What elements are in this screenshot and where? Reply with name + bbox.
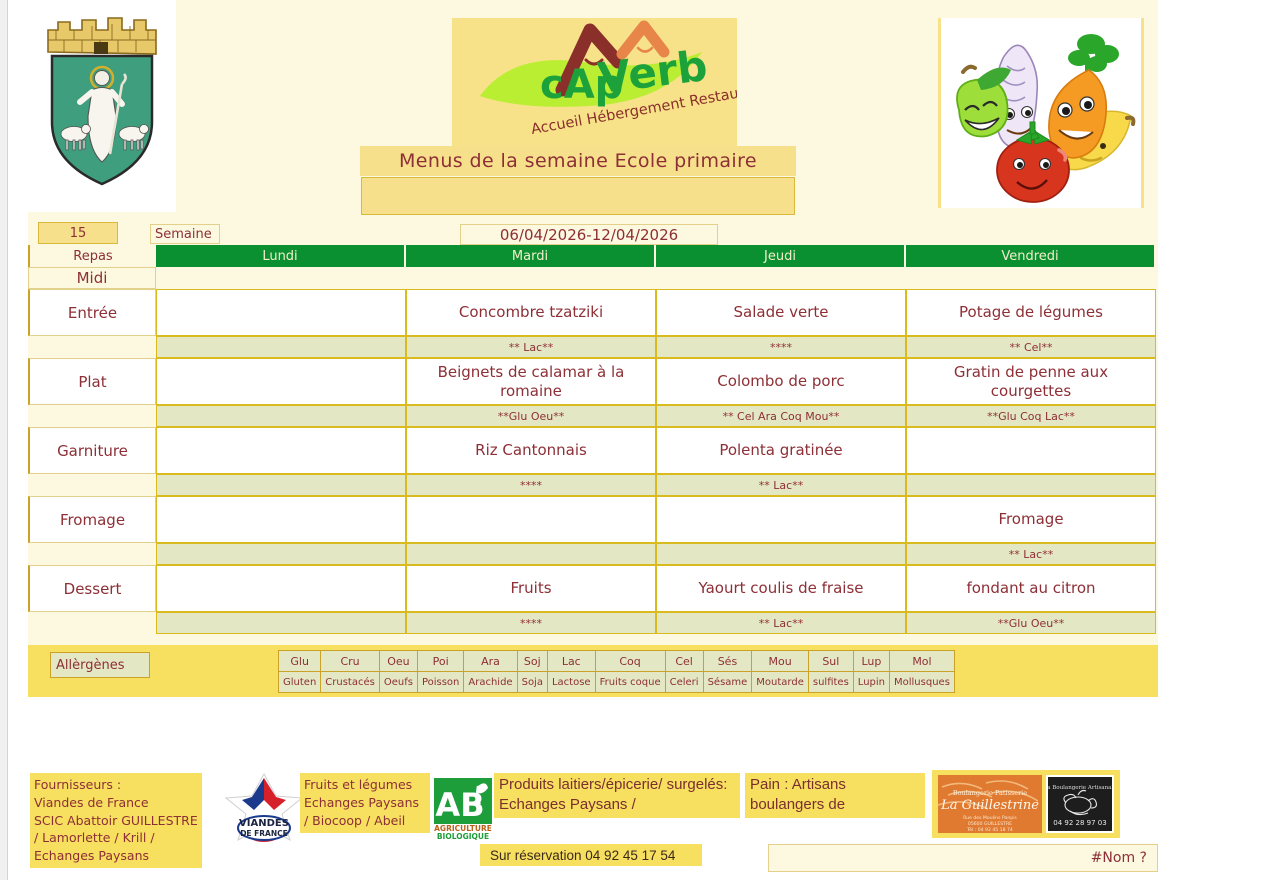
menu-cell-1-2[interactable]: Colombo de porc	[656, 358, 906, 405]
week-date-range[interactable]: 06/04/2026-12/04/2026	[460, 224, 718, 245]
allergen-note-1-1: **Glu Oeu**	[406, 405, 656, 427]
capverb-logo: cAp Verb Accueil Hébergement Restauratio…	[452, 18, 737, 148]
allergen-note-row: ** Lac**	[28, 543, 1158, 565]
menu-page: cAp Verb Accueil Hébergement Restauratio…	[0, 0, 1279, 880]
menu-cell-0-1[interactable]: Concombre tzatziki	[406, 289, 656, 336]
allergen-note-3-0	[156, 543, 406, 565]
allergen-code-13: Mol	[890, 651, 955, 672]
menu-cell-3-1[interactable]	[406, 496, 656, 543]
svg-text:Tél : 04 92 45 18 74: Tél : 04 92 45 18 74	[966, 826, 1013, 833]
allergen-note-4-3: **Glu Oeu**	[906, 612, 1156, 634]
town-crest-image	[28, 0, 176, 212]
note-label-spacer-4	[28, 612, 156, 634]
nom-field-text: #Nom ?	[1091, 850, 1147, 866]
menu-cell-1-0[interactable]	[156, 358, 406, 405]
allergen-note-1-2: ** Cel Ara Coq Mou**	[656, 405, 906, 427]
table-row: FromageFromage	[28, 496, 1158, 543]
menu-cell-1-1[interactable]: Beignets de calamar à la romaine	[406, 358, 656, 405]
week-label: Semaine	[150, 224, 220, 244]
allergen-code-6: Lac	[547, 651, 595, 672]
week-number[interactable]: 15	[38, 222, 118, 244]
header-day-mardi: Mardi	[406, 245, 656, 267]
allergen-name-4: Arachide	[464, 672, 517, 693]
header-repas: Repas	[28, 245, 156, 267]
allergen-code-12: Lup	[853, 651, 889, 672]
bakery-artisanale-image: La Boulangerie Artisanale 04 92 28 97 03	[1046, 775, 1114, 833]
allergen-code-9: Sés	[703, 651, 752, 672]
allergen-name-10: Moutarde	[752, 672, 809, 693]
allergen-note-2-3	[906, 474, 1156, 496]
allergen-note-row: ****** Lac****Glu Oeu**	[28, 612, 1158, 634]
row-label-4: Dessert	[28, 565, 156, 612]
allergen-name-3: Poisson	[417, 672, 463, 693]
allergen-code-1: Cru	[321, 651, 380, 672]
row-label-2: Garniture	[28, 427, 156, 474]
allergen-note-0-0	[156, 336, 406, 358]
table-row: PlatBeignets de calamar à la romaineColo…	[28, 358, 1158, 405]
ab-logo-line2: BIOLOGIQUE	[437, 832, 489, 840]
svg-text:05600 GUILLESTRE: 05600 GUILLESTRE	[968, 821, 1012, 827]
viandes-logo-line2: DE FRANCE	[240, 829, 288, 838]
allergen-name-11: sulfites	[808, 672, 853, 693]
midi-label: Midi	[28, 267, 156, 289]
allergen-name-6: Lactose	[547, 672, 595, 693]
page-title-text: Menus de la semaine Ecole primaire	[399, 150, 757, 172]
menu-cell-4-0[interactable]	[156, 565, 406, 612]
suppliers-text: Fournisseurs : Viandes de France SCIC Ab…	[30, 773, 202, 868]
allergen-note-row: **Glu Oeu**** Cel Ara Coq Mou****Glu Coq…	[28, 405, 1158, 427]
menu-cell-4-1[interactable]: Fruits	[406, 565, 656, 612]
header-day-lundi: Lundi	[156, 245, 406, 267]
table-row: GarnitureRiz CantonnaisPolenta gratinée	[28, 427, 1158, 474]
bakery1-top: Boulangerie Patisserie	[953, 789, 1027, 797]
header-day-jeudi: Jeudi	[656, 245, 906, 267]
allergen-code-0: Glu	[279, 651, 321, 672]
menu-cell-2-0[interactable]	[156, 427, 406, 474]
allergen-note-3-1	[406, 543, 656, 565]
menu-cell-4-2[interactable]: Yaourt coulis de fraise	[656, 565, 906, 612]
allergen-note-row: ** Lac******** Cel**	[28, 336, 1158, 358]
allergen-note-2-0	[156, 474, 406, 496]
ab-agriculture-biologique-logo: AB AGRICULTURE BIOLOGIQUE	[434, 778, 492, 840]
allergen-code-5: Soj	[517, 651, 547, 672]
allergen-note-3-2	[656, 543, 906, 565]
allergen-code-8: Cel	[665, 651, 703, 672]
note-label-spacer-2	[28, 474, 156, 496]
allergen-code-3: Poi	[417, 651, 463, 672]
bakery-guillestrine-image: Boulangerie Patisserie La Guillestrine R…	[938, 775, 1042, 833]
allergen-code-7: Coq	[595, 651, 665, 672]
allergen-note-0-3: ** Cel**	[906, 336, 1156, 358]
reservation-text: Sur réservation 04 92 45 17 54	[480, 844, 702, 866]
fruits-legumes-text: Fruits et légumes Echanges Paysans / Bio…	[300, 773, 430, 833]
menu-cell-2-3[interactable]	[906, 427, 1156, 474]
bakery1-name: La Guillestrine	[940, 798, 1039, 813]
page-scrollbar[interactable]	[0, 0, 8, 880]
allergen-name-7: Fruits coque	[595, 672, 665, 693]
dairy-supplier-text: Produits laitiers/épicerie/ surgelés: Ec…	[494, 773, 740, 818]
allergen-code-11: Sul	[808, 651, 853, 672]
table-header-row: Repas Lundi Mardi Jeudi Vendredi	[28, 245, 1158, 267]
page-title: Menus de la semaine Ecole primaire	[360, 146, 796, 176]
menu-cell-3-0[interactable]	[156, 496, 406, 543]
header-day-vendredi: Vendredi	[906, 245, 1156, 267]
allergen-name-13: Mollusques	[890, 672, 955, 693]
menu-table: Repas Lundi Mardi Jeudi Vendredi Midi En…	[28, 245, 1158, 634]
allergen-note-row: ****** Lac**	[28, 474, 1158, 496]
bread-supplier-text: Pain : Artisans boulangers de	[745, 773, 925, 818]
allergen-name-5: Soja	[517, 672, 547, 693]
menu-cell-3-3[interactable]: Fromage	[906, 496, 1156, 543]
allergen-name-12: Lupin	[853, 672, 889, 693]
svg-text:Rue des Moulins Panpis: Rue des Moulins Panpis	[963, 815, 1017, 821]
table-row: EntréeConcombre tzatzikiSalade vertePota…	[28, 289, 1158, 336]
footer: Fournisseurs : Viandes de France SCIC Ab…	[0, 760, 1279, 880]
allergen-name-2: Oeufs	[379, 672, 417, 693]
allergen-note-1-3: **Glu Coq Lac**	[906, 405, 1156, 427]
allergen-code-10: Mou	[752, 651, 809, 672]
menu-cell-0-2[interactable]: Salade verte	[656, 289, 906, 336]
note-label-spacer-1	[28, 405, 156, 427]
menu-cell-4-3[interactable]: fondant au citron	[906, 565, 1156, 612]
allergen-code-4: Ara	[464, 651, 517, 672]
menu-cell-1-3[interactable]: Gratin de penne aux courgettes	[906, 358, 1156, 405]
allergen-note-4-1: ****	[406, 612, 656, 634]
allergens-name-row: GlutenCrustacésOeufsPoissonArachideSojaL…	[279, 672, 955, 693]
table-row: DessertFruitsYaourt coulis de fraisefond…	[28, 565, 1158, 612]
allergen-note-1-0	[156, 405, 406, 427]
note-label-spacer-0	[28, 336, 156, 358]
menu-cell-0-3[interactable]: Potage de légumes	[906, 289, 1156, 336]
allergens-code-row: GluCruOeuPoiAraSojLacCoqCelSésMouSulLupM…	[279, 651, 955, 672]
allergen-note-0-2: ****	[656, 336, 906, 358]
allergen-note-4-2: ** Lac**	[656, 612, 906, 634]
subtitle-box	[361, 177, 795, 215]
menu-cell-0-0[interactable]	[156, 289, 406, 336]
allergens-title: Allèrgènes	[50, 652, 150, 678]
table-body: EntréeConcombre tzatzikiSalade vertePota…	[28, 289, 1158, 634]
viandes-logo-line1: VIANDES	[239, 818, 289, 829]
allergen-name-9: Sésame	[703, 672, 752, 693]
allergen-name-1: Crustacés	[321, 672, 380, 693]
menu-cell-2-2[interactable]: Polenta gratinée	[656, 427, 906, 474]
bakery2-phone: 04 92 28 97 03	[1053, 819, 1106, 827]
allergen-code-2: Oeu	[379, 651, 417, 672]
row-label-3: Fromage	[28, 496, 156, 543]
menu-cell-3-2[interactable]	[656, 496, 906, 543]
allergen-note-2-2: ** Lac**	[656, 474, 906, 496]
bakery2-top: La Boulangerie Artisanale	[1048, 785, 1112, 791]
viandes-de-france-logo: VIANDES DE FRANCE	[218, 770, 310, 848]
menu-cell-2-1[interactable]: Riz Cantonnais	[406, 427, 656, 474]
allergen-note-0-1: ** Lac**	[406, 336, 656, 358]
allergen-note-2-1: ****	[406, 474, 656, 496]
allergen-note-4-0	[156, 612, 406, 634]
nom-field[interactable]: #Nom ?	[768, 844, 1158, 872]
allergen-name-0: Gluten	[279, 672, 321, 693]
allergen-name-8: Celeri	[665, 672, 703, 693]
midi-filler	[156, 267, 1158, 289]
vegetables-image	[938, 18, 1144, 208]
table-midi-row: Midi	[28, 267, 1158, 289]
allergens-legend-table: GluCruOeuPoiAraSojLacCoqCelSésMouSulLupM…	[278, 650, 955, 693]
row-label-1: Plat	[28, 358, 156, 405]
note-label-spacer-3	[28, 543, 156, 565]
allergen-note-3-3: ** Lac**	[906, 543, 1156, 565]
row-label-0: Entrée	[28, 289, 156, 336]
